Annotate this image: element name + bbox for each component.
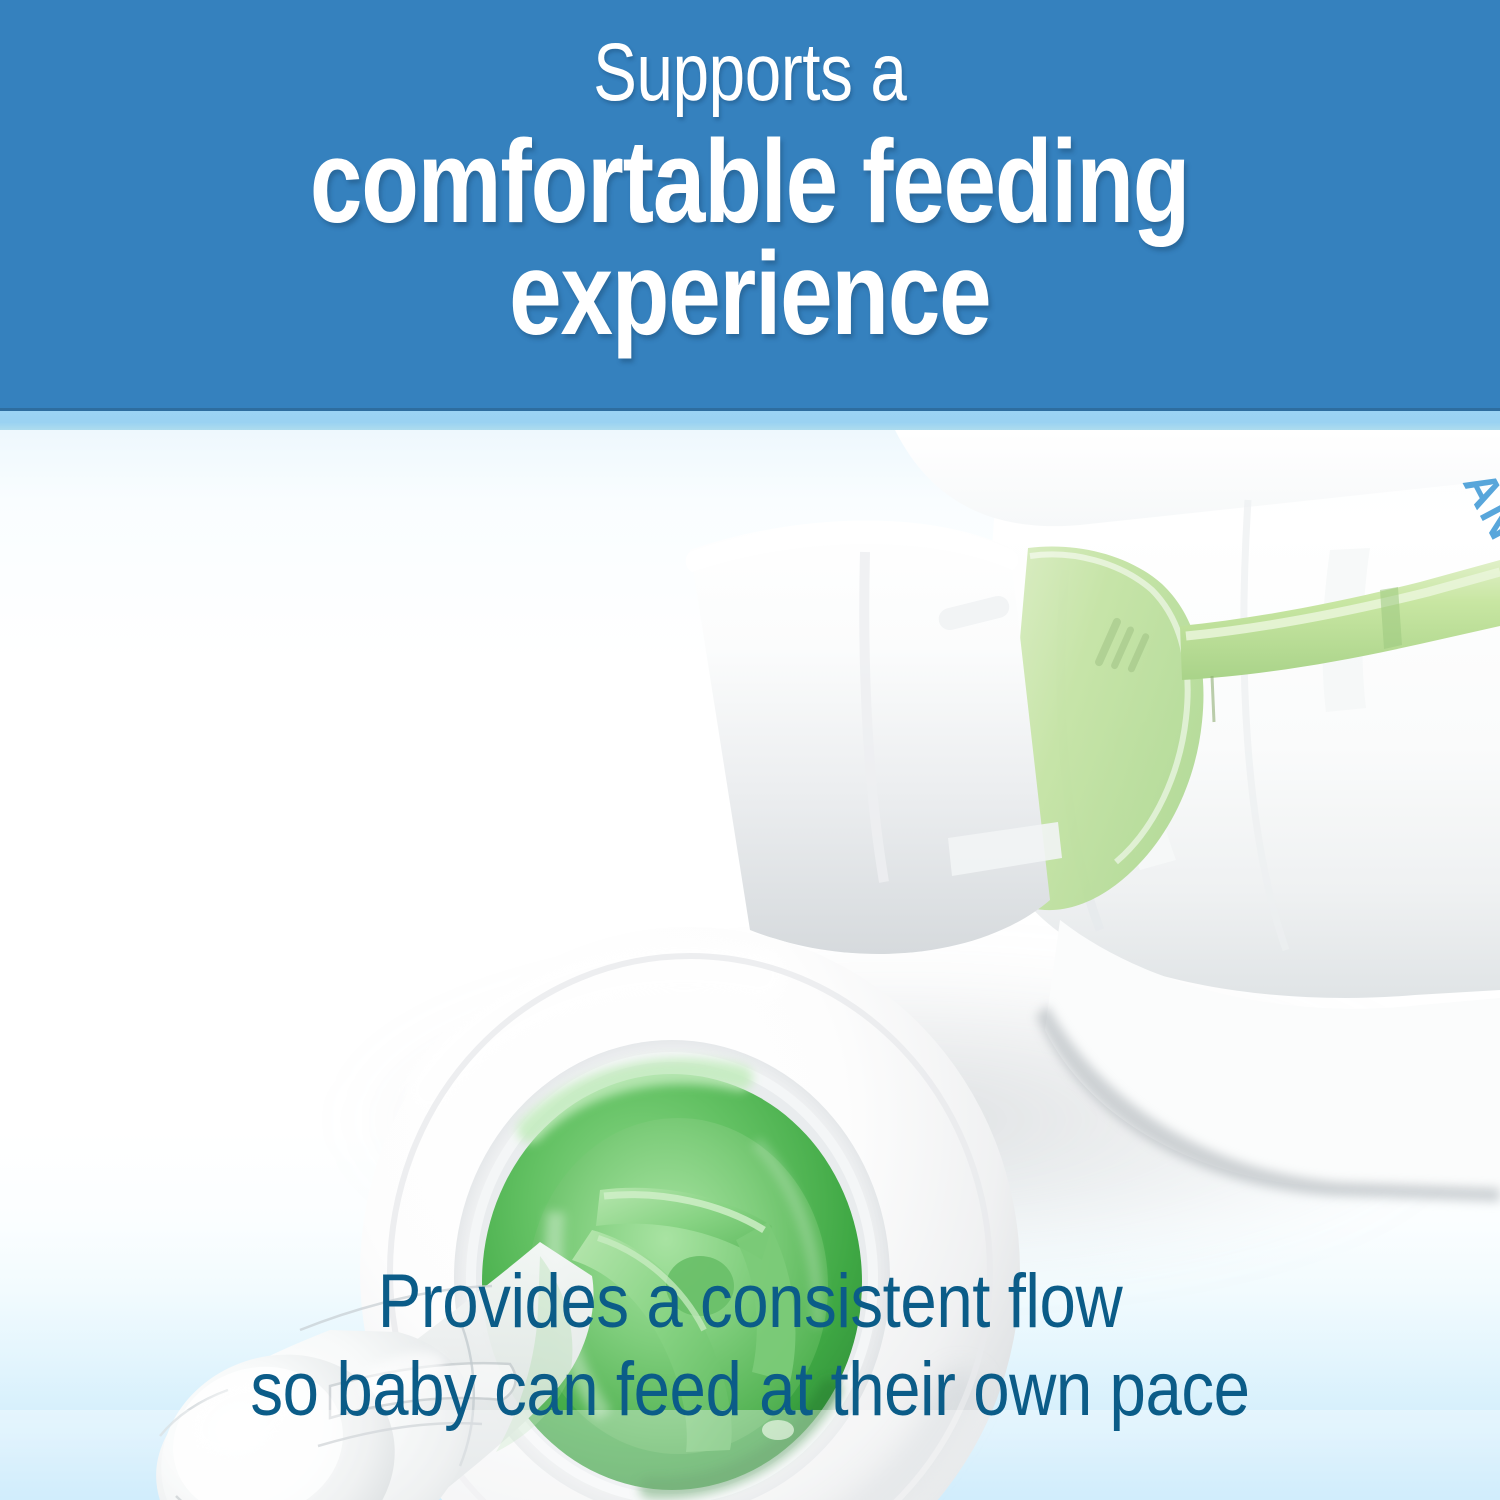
header-banner: Supports a comfortable feeding experienc… <box>0 0 1500 410</box>
headline-line-2: comfortable feeding <box>310 123 1189 241</box>
headline-line-3: experience <box>509 235 990 353</box>
product-marketing-image: Supports a comfortable feeding experienc… <box>0 0 1500 1500</box>
headline-line-1: Supports a <box>593 34 906 113</box>
product-photo-stage: ANTI-COLIC <box>0 430 1500 1500</box>
product-illustration: ANTI-COLIC <box>0 430 1500 1500</box>
banner-accent-strip <box>0 411 1500 430</box>
